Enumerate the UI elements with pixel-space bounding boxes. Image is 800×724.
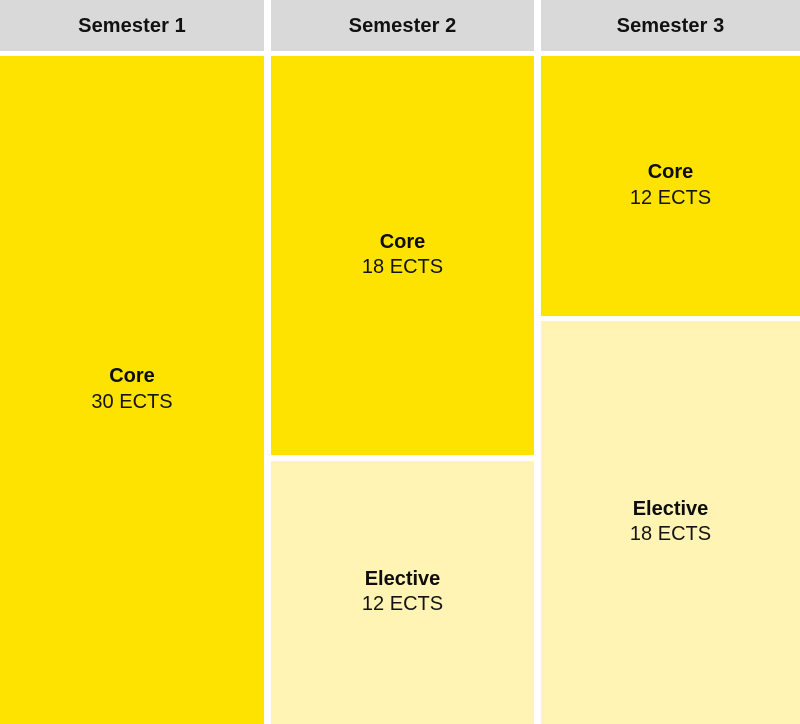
column-header-label: Semester 1 bbox=[78, 16, 186, 36]
column-header-label: Semester 3 bbox=[617, 16, 725, 36]
block-value: 18 ECTS bbox=[630, 521, 711, 547]
block-title: Elective bbox=[365, 568, 441, 592]
block-title: Core bbox=[109, 365, 155, 389]
block-title: Elective bbox=[633, 498, 709, 522]
block-semester-3-elective[interactable]: Elective 18 ECTS bbox=[541, 321, 800, 724]
column-header-semester-2: Semester 2 bbox=[271, 0, 534, 51]
column-header-label: Semester 2 bbox=[349, 16, 457, 36]
block-semester-3-core[interactable]: Core 12 ECTS bbox=[541, 56, 800, 316]
column-semester-3: Core 12 ECTS Elective 18 ECTS bbox=[541, 56, 800, 724]
block-semester-2-core[interactable]: Core 18 ECTS bbox=[271, 56, 534, 455]
block-semester-1-core[interactable]: Core 30 ECTS bbox=[0, 56, 264, 724]
column-header-semester-1: Semester 1 bbox=[0, 0, 264, 51]
column-semester-2: Core 18 ECTS Elective 12 ECTS bbox=[271, 56, 534, 724]
ects-mosaic-chart: Semester 1 Semester 2 Semester 3 Core 30… bbox=[0, 0, 800, 724]
block-semester-2-elective[interactable]: Elective 12 ECTS bbox=[271, 461, 534, 724]
block-title: Core bbox=[380, 231, 426, 255]
column-semester-1: Core 30 ECTS bbox=[0, 56, 264, 724]
block-title: Core bbox=[648, 161, 694, 185]
block-value: 12 ECTS bbox=[362, 591, 443, 617]
block-value: 12 ECTS bbox=[630, 185, 711, 211]
column-header-row: Semester 1 Semester 2 Semester 3 bbox=[0, 0, 800, 51]
block-value: 18 ECTS bbox=[362, 254, 443, 280]
column-header-semester-3: Semester 3 bbox=[541, 0, 800, 51]
block-value: 30 ECTS bbox=[91, 389, 172, 415]
